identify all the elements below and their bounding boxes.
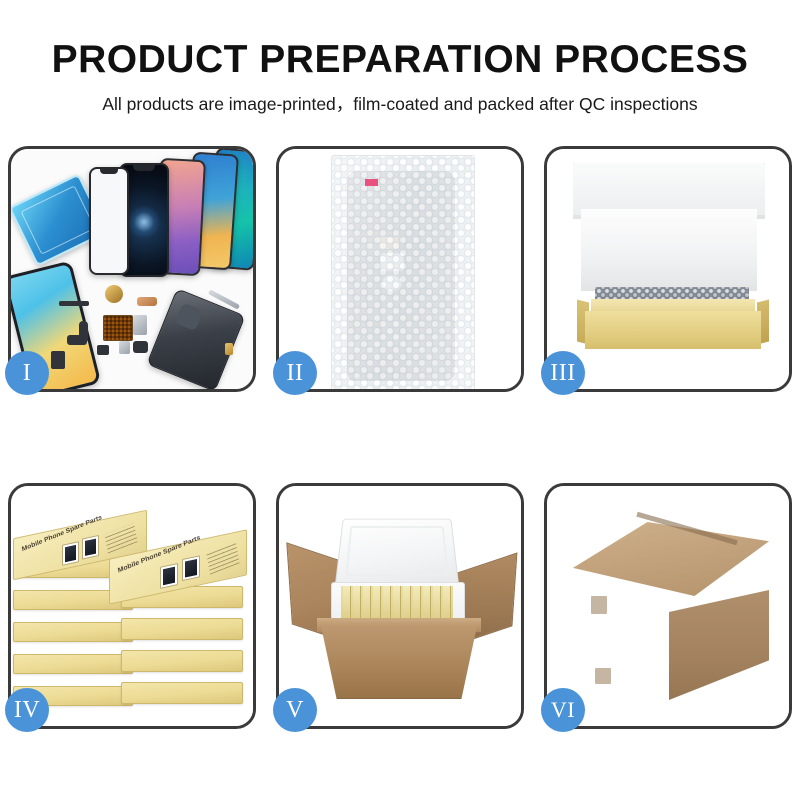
sensor-part <box>97 345 109 355</box>
step-panel-6: VI <box>544 483 792 729</box>
step-panel-3: III <box>544 146 792 392</box>
carton-top-face <box>573 522 769 596</box>
sim-tray-part <box>119 341 130 354</box>
earpiece-part <box>133 341 148 353</box>
step-image-6 <box>547 486 789 726</box>
foam-lined-carton-scene <box>279 486 521 726</box>
stacked-box <box>121 682 243 704</box>
step-image-5 <box>279 486 521 726</box>
step-panel-2: II <box>276 146 524 392</box>
step-badge-3: III <box>541 351 585 395</box>
box-tray-front <box>585 311 761 349</box>
step-badge-4: IV <box>5 688 49 732</box>
box-stack-scene: Mobile Phone Spare Parts Mobile Phone Sp… <box>11 486 253 726</box>
product-preparation-infographic: PRODUCT PREPARATION PROCESS All products… <box>0 0 800 800</box>
screw-part <box>225 343 233 355</box>
step-panel-1: I <box>8 146 256 392</box>
white-lid-back <box>573 163 765 215</box>
page-subtitle: All products are image-printed，film-coat… <box>0 81 800 116</box>
step-badge-1: I <box>5 351 49 395</box>
step-badge-6: VI <box>541 688 585 732</box>
box-spec-text <box>104 523 137 553</box>
ic-chip-grid-part <box>103 315 133 341</box>
page-title: PRODUCT PREPARATION PROCESS <box>0 0 800 81</box>
stacked-box <box>121 618 243 640</box>
bubble-wrap-sleeve <box>331 155 475 389</box>
stacked-box <box>13 654 133 674</box>
box-spec-text <box>206 542 239 574</box>
flex-cable-part <box>137 297 157 306</box>
carton-tape-lower <box>595 668 611 684</box>
carton-side-face <box>669 590 769 700</box>
open-inner-box-scene <box>547 149 789 389</box>
foam-lid <box>335 519 459 586</box>
step-image-4: Mobile Phone Spare Parts Mobile Phone Sp… <box>11 486 253 726</box>
carton-tape-upper <box>591 596 607 614</box>
connector-part <box>51 351 65 369</box>
speaker-mesh-part <box>59 301 89 306</box>
step-panel-5: V <box>276 483 524 729</box>
tempered-glass-protector <box>89 167 129 275</box>
step-badge-5: V <box>273 688 317 732</box>
stacked-box <box>121 650 243 672</box>
carton-front-face <box>573 572 671 688</box>
step-badge-2: II <box>273 351 317 395</box>
phone-parts-scene <box>11 149 253 389</box>
white-lid-front <box>581 209 757 291</box>
header: PRODUCT PREPARATION PROCESS All products… <box>0 0 800 116</box>
process-steps-grid: I II <box>8 146 792 792</box>
stacked-box <box>13 622 133 642</box>
pink-seal-tab <box>365 179 378 186</box>
step-image-2 <box>279 149 521 389</box>
step-panel-4: Mobile Phone Spare Parts Mobile Phone Sp… <box>8 483 256 729</box>
carton-body <box>321 626 477 699</box>
vibrator-part <box>67 335 87 345</box>
step-image-1 <box>11 149 253 389</box>
sealed-carton-scene <box>547 486 789 726</box>
shield-plate-part <box>133 315 147 335</box>
bubble-wrapped-screen-scene <box>279 149 521 389</box>
camera-module-part <box>105 285 123 303</box>
step-image-3 <box>547 149 789 389</box>
